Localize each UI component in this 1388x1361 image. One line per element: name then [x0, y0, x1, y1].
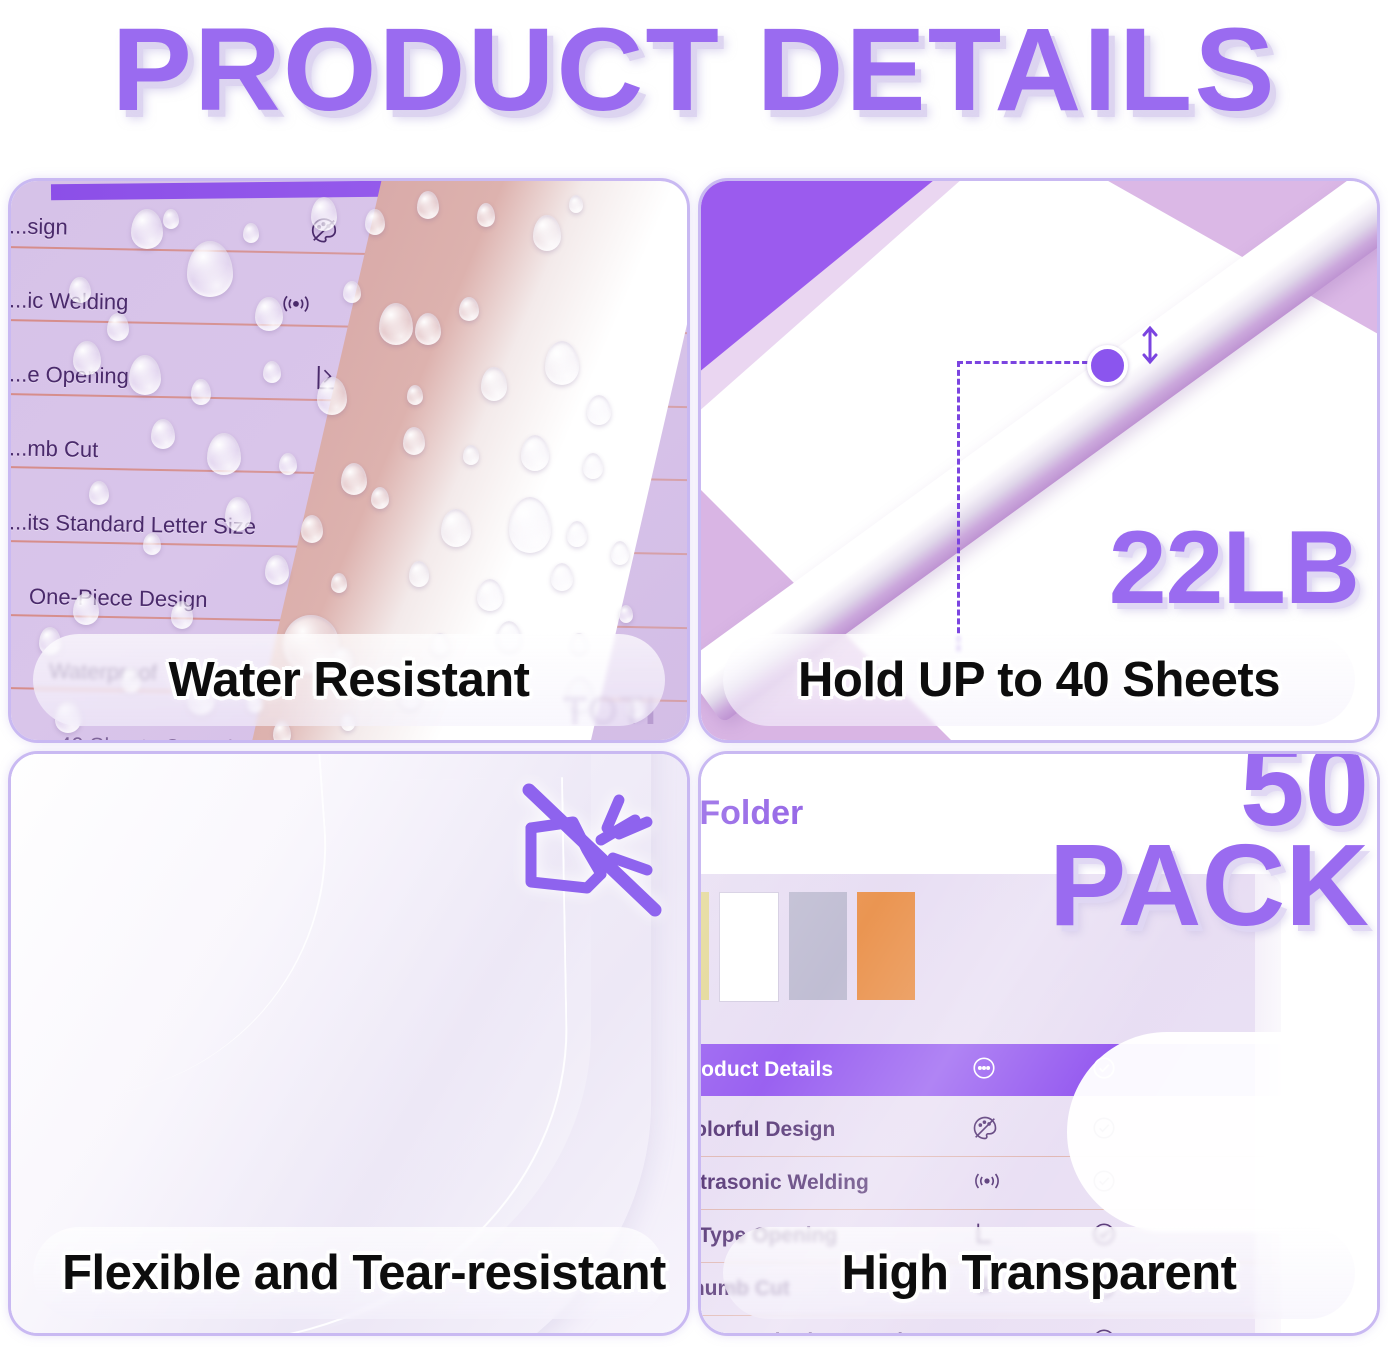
spec-row-label: ...its Standard Letter Size — [9, 509, 256, 540]
page-title-bar: PRODUCT DETAILS — [0, 0, 1388, 140]
table-cell-label: Colorful Design — [698, 1118, 835, 1142]
measure-arrow-icon — [1133, 321, 1167, 376]
spec-row-label: 40 Sheets Capacity — [59, 732, 250, 743]
plastic-rounded-corner — [1067, 1032, 1297, 1232]
table-cell-label: L-Type Opening — [698, 1224, 837, 1248]
spec-row-label: ...mb Cut — [9, 435, 99, 463]
panel-high-transparent[interactable]: e Folder Product Details — [698, 751, 1380, 1336]
table-cell-label: Product Details — [698, 1058, 833, 1082]
spec-row-label: ...e Opening — [9, 361, 129, 389]
check-circle-icon — [1091, 1327, 1117, 1337]
table-cell-label: Fits Standard Letter Size — [698, 1330, 925, 1336]
aa-text-icon: Aa — [971, 1325, 1013, 1337]
svg-text:Aa: Aa — [973, 1329, 993, 1336]
pack-count-badge: 50 PACK — [1049, 751, 1369, 936]
brand-watermark: TOTI — [563, 689, 657, 734]
callout-dashed-horizontal — [957, 361, 1097, 364]
card-title-row: e Folder — [698, 794, 803, 842]
swatch — [857, 892, 915, 1000]
scissors-icon — [971, 1272, 997, 1307]
table-cell-label: Ultrasonic Welding — [698, 1171, 869, 1195]
measure-point-icon — [1087, 345, 1128, 386]
panel-flexible-tear-resistant[interactable]: Flexible and Tear-resistant — [8, 751, 690, 1336]
table-row: Thumb Cut — [698, 1263, 1281, 1315]
callout-dashed-vertical — [957, 361, 960, 651]
panel-water-resistant[interactable]: ...sign ...ic Welding — [8, 178, 690, 743]
more-dots-icon — [971, 1055, 997, 1086]
palette-icon — [971, 1114, 999, 1147]
spec-row-label: ...sign — [9, 213, 68, 240]
check-circle-icon — [1091, 1274, 1117, 1305]
swatch — [698, 892, 709, 1000]
orange-accent-bits — [698, 751, 919, 781]
pack-count-label: PACK — [1049, 836, 1369, 936]
signal-icon — [279, 288, 314, 324]
signal-icon — [971, 1167, 1003, 1200]
no-tear-icon — [515, 778, 665, 923]
check-circle-icon — [1091, 1221, 1117, 1252]
page-title: PRODUCT DETAILS — [111, 2, 1276, 138]
l-shape-icon — [971, 1219, 997, 1254]
table-row: Fits Standard Letter Size Aa — [698, 1316, 1281, 1336]
panel-hold-40-sheets[interactable]: 22LB Hold UP to 40 Sheets — [698, 178, 1380, 743]
weight-badge: 22LB — [1109, 509, 1359, 628]
purple-triangle-corner — [698, 178, 940, 390]
feature-panel-grid: ...sign ...ic Welding — [8, 178, 1380, 1356]
card-title: e Folder — [698, 794, 803, 832]
color-swatches — [698, 892, 915, 1002]
swatch — [789, 892, 847, 1000]
swatch — [719, 892, 779, 1002]
table-cell-label: Thumb Cut — [698, 1277, 790, 1301]
